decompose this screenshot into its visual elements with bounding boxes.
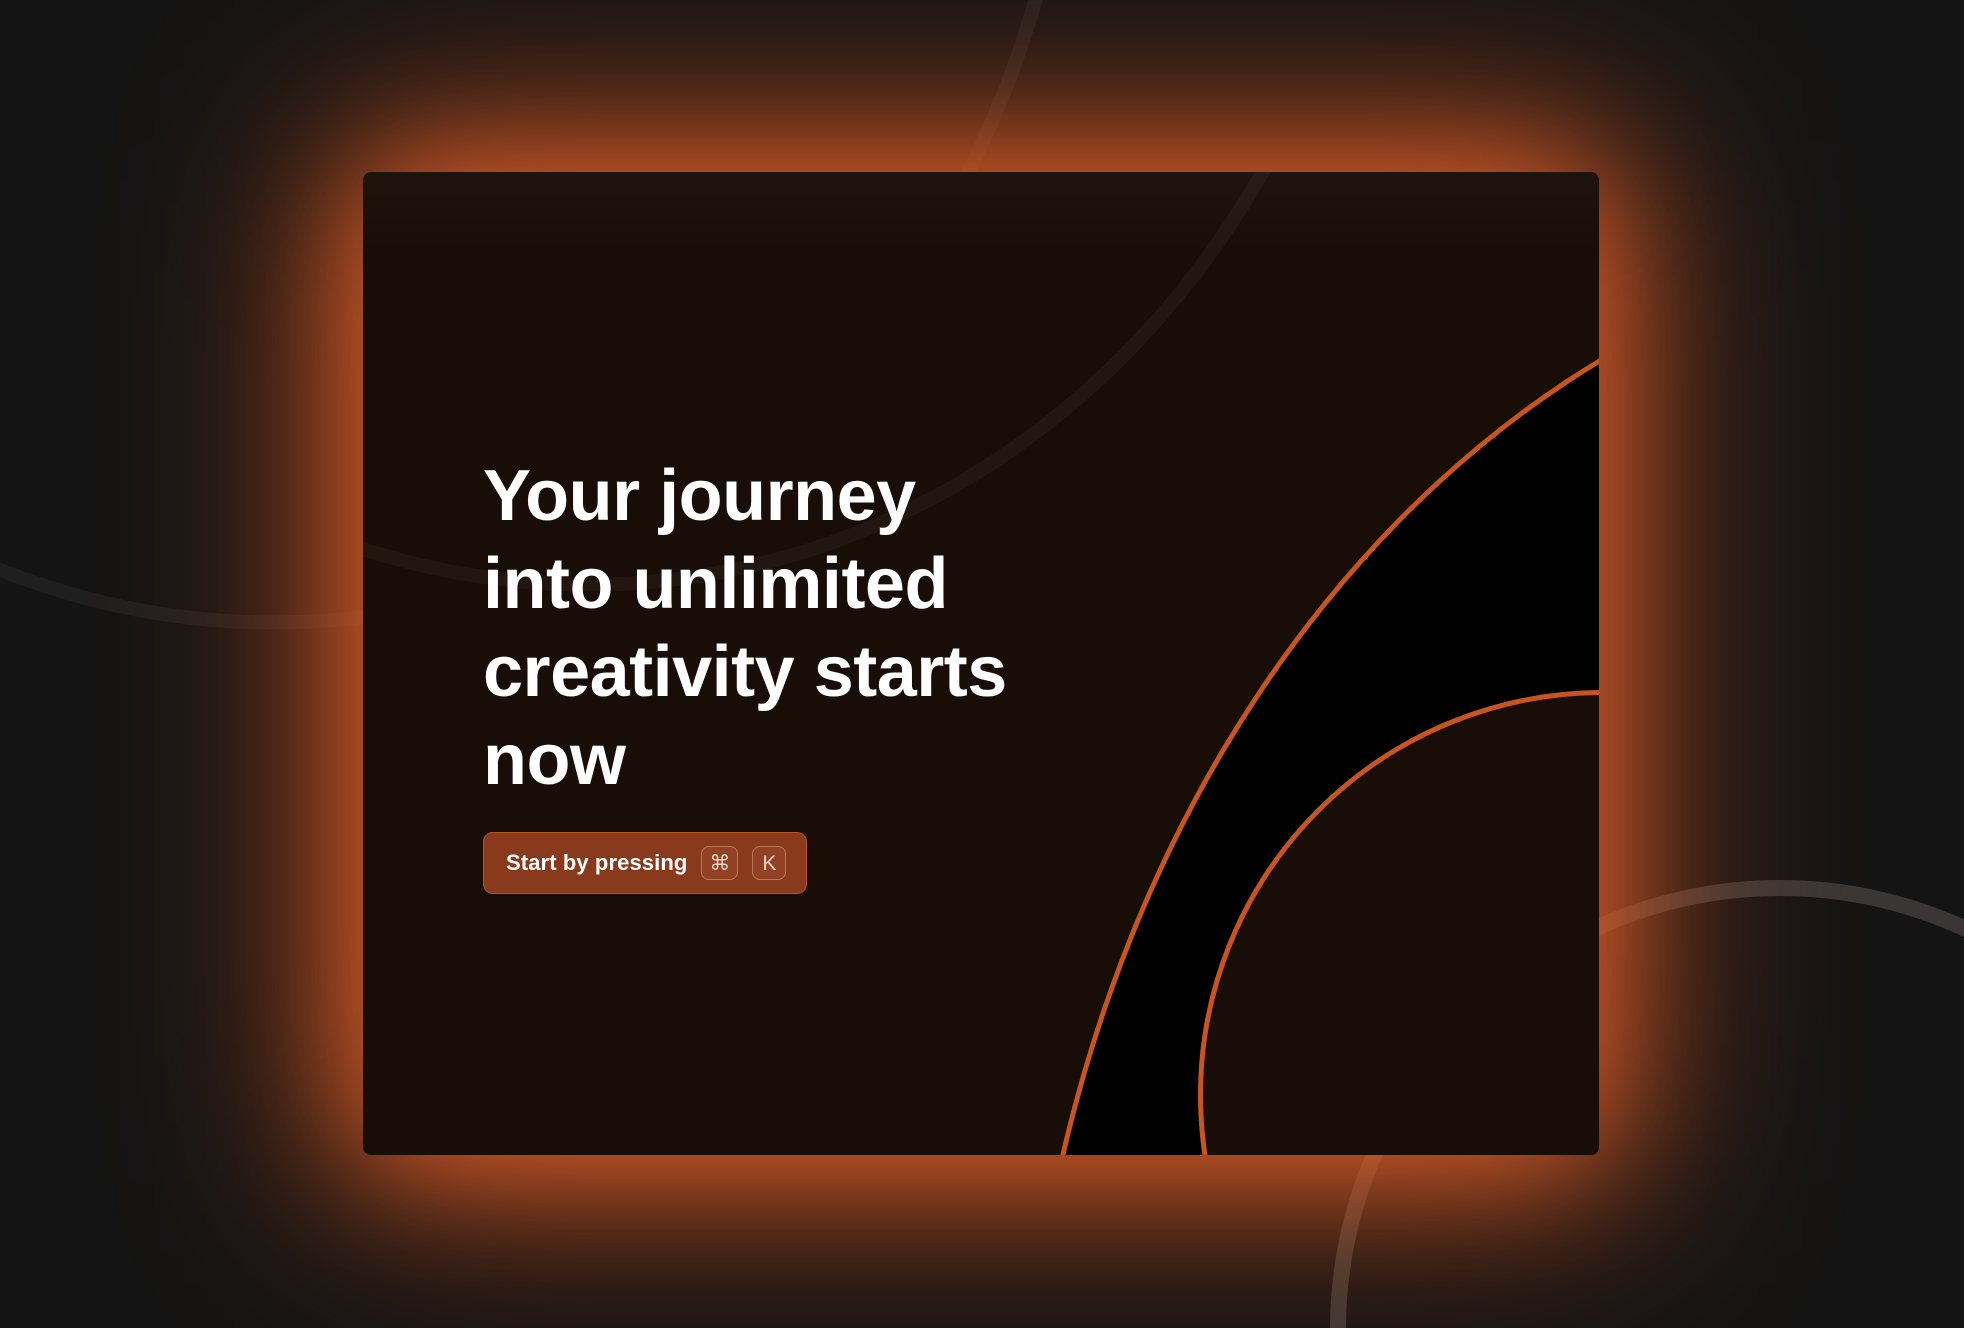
command-key-icon[interactable]: ⌘ — [701, 846, 738, 880]
page-title: Your journey into unlimited creativity s… — [483, 452, 1123, 804]
page-root: Your journey into unlimited creativity s… — [0, 0, 1964, 1328]
start-by-pressing-button[interactable]: Start by pressing ⌘ K — [483, 832, 807, 894]
card-top-sheen — [363, 172, 1599, 252]
k-key-icon[interactable]: K — [752, 846, 786, 880]
cta-label: Start by pressing — [506, 850, 687, 876]
hero-card: Your journey into unlimited creativity s… — [363, 172, 1599, 1155]
hero-content: Your journey into unlimited creativity s… — [483, 452, 1123, 894]
